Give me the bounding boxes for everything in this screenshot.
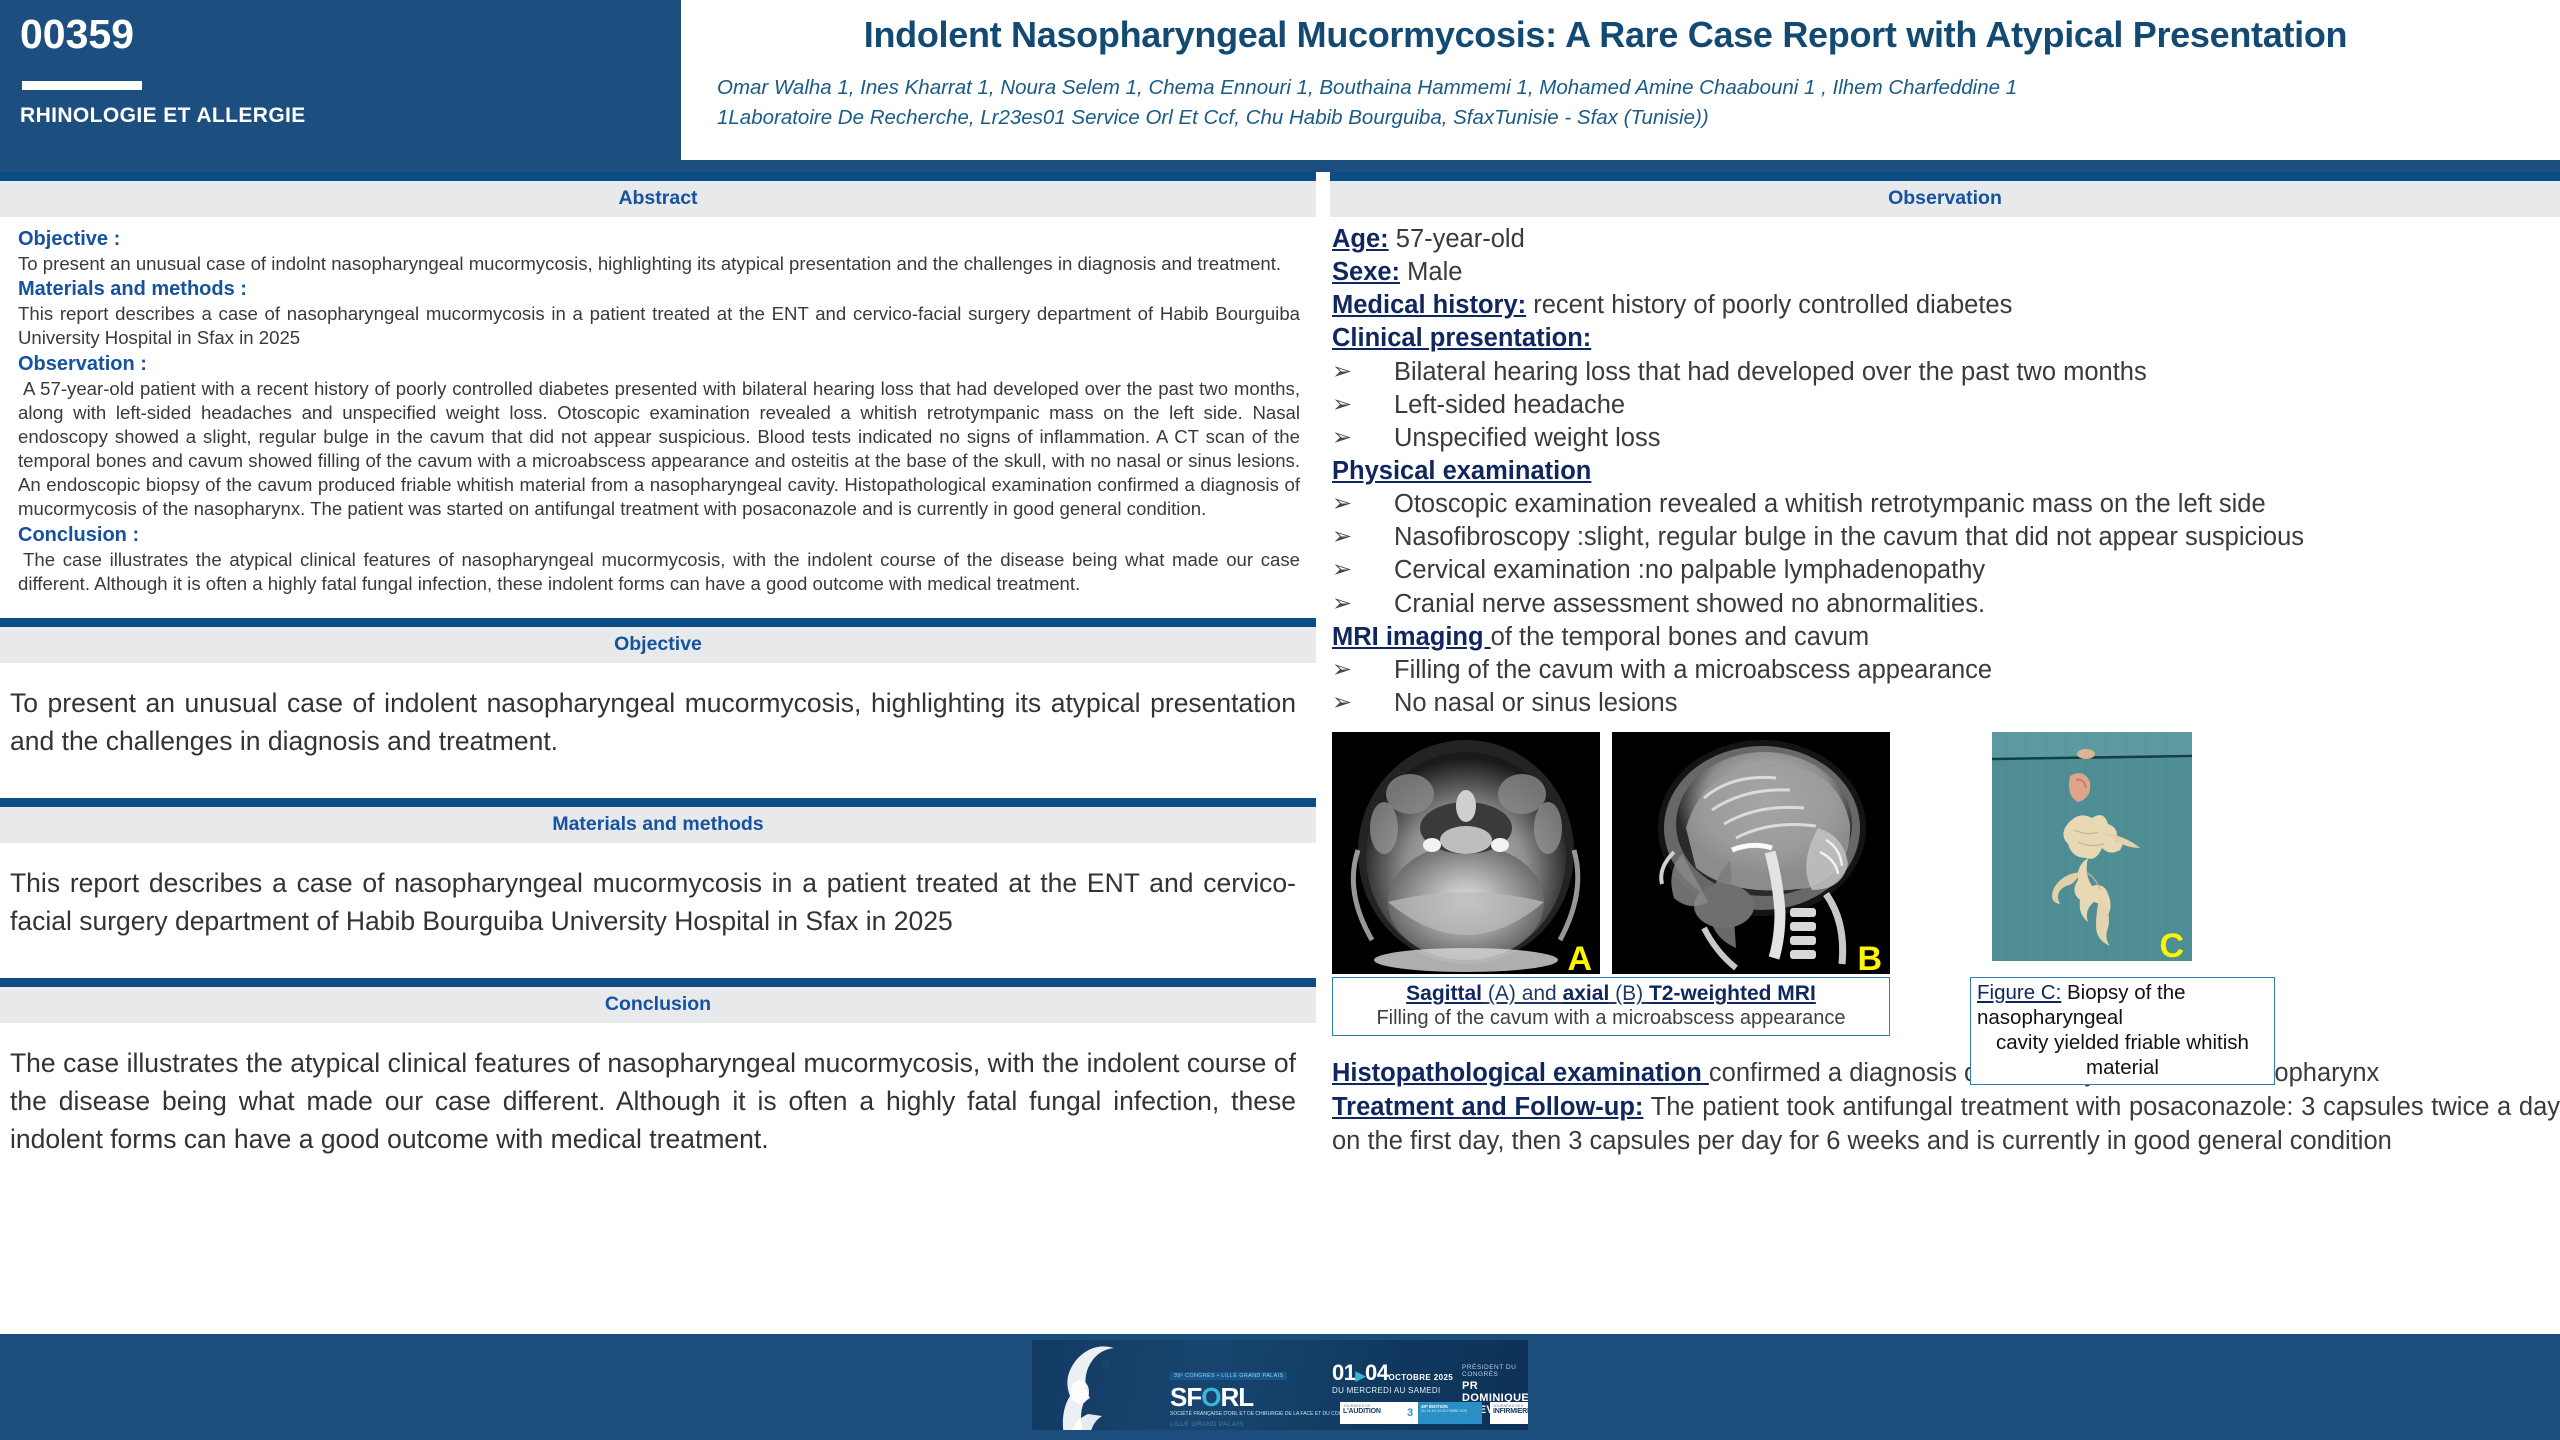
abstract-observation-label: Observation : [18,351,1300,377]
caption-ab-sep1: (A) and [1482,982,1563,1005]
list-item-label: Bilateral hearing loss that had develope… [1394,356,2560,389]
section-title-abstract: Abstract [0,187,1316,210]
poster-category-label: RHINOLOGIE ET ALLERGIE [20,104,681,128]
arrowhead-bullet-icon: ➢ [1332,687,1394,720]
poster-root: 00359 RHINOLOGIE ET ALLERGIE Indolent Na… [0,0,2560,1440]
figure-b: B [1612,732,1890,974]
abstract-conclusion-text: The case illustrates the atypical clinic… [18,548,1300,596]
list-item-label: Filling of the cavum with a microabscess… [1394,654,2560,687]
observation-age-label: Age: [1332,225,1389,253]
observation-histopath-row: Histopathological examination confirmed … [1330,1057,2560,1091]
date-to: 04 [1365,1360,1388,1385]
caption-ab-line2: Filling of the cavum with a microabscess… [1339,1006,1883,1030]
objective-text: To present an unusual case of indolent n… [10,685,1296,760]
conclusion-text: The case illustrates the atypical clinic… [10,1045,1296,1158]
congress-banner: 39ᵉ CONGRÈS • LILLE GRAND PALAIS SFORL S… [1032,1340,1528,1436]
left-column: Abstract Objective : To present an unusu… [0,172,1316,1178]
list-item-label: Cranial nerve assessment showed no abnor… [1394,588,2560,621]
chip-infirmieres-name: INFIRMIERES [1493,1408,1528,1415]
materials-body: This report describes a case of nasophar… [0,843,1316,960]
date-month: OCTOBRE 2025 [1388,1373,1453,1382]
chip-audition-left: JOURNÉES DE L'AUDITION [1340,1402,1402,1424]
chip-audition-right: 40ᵉ ÉDITION DU 01 AU 04 OCTOBRE 2025 [1418,1402,1482,1424]
section-header-conclusion: Conclusion [0,978,1316,1023]
congress-date-range: 01▶04OCTOBRE 2025 [1332,1362,1453,1384]
caption-ab-sagittal: Sagittal [1406,982,1482,1005]
figure-a-tag: A [1567,942,1592,976]
abstract-conclusion-label: Conclusion : [18,522,1300,548]
materials-text: This report describes a case of nasophar… [10,865,1296,940]
header-rule-divider [22,81,142,90]
observation-mri-label: MRI imaging [1332,623,1491,651]
section-header-objective: Objective [0,618,1316,663]
affiliation-line: 1Laboratoire De Recherche, Lr23es01 Serv… [717,103,2520,132]
observation-clinical-label: Clinical presentation: [1332,324,1591,352]
abstract-body: Objective : To present an unusual case o… [0,217,1316,600]
section-header-observation: Observation [1330,172,2560,217]
chip-audition-dates: DU 01 AU 04 OCTOBRE 2025 [1421,1409,1479,1413]
congress-dates-block: 01▶04OCTOBRE 2025 DU MERCREDI AU SAMEDI [1332,1362,1453,1395]
figure-b-tag: B [1857,942,1882,976]
abstract-materials-label: Materials and methods : [18,276,1300,302]
congress-event-chips: JOURNÉES DE L'AUDITION 3 40ᵉ ÉDITION DU … [1340,1402,1528,1424]
observation-sexe-value: Male [1407,258,1462,286]
arrowhead-bullet-icon: ➢ [1332,554,1394,587]
spacer [0,960,1316,978]
figure-c-tag: C [2159,929,2184,963]
header-right-block: Indolent Nasopharyngeal Mucormycosis: A … [681,0,2560,160]
section-title-objective: Objective [0,633,1316,656]
section-title-conclusion: Conclusion [0,993,1316,1016]
list-item-label: Otoscopic examination revealed a whitish… [1394,488,2560,521]
brand-part-2: RL [1220,1382,1253,1412]
observation-history-value: recent history of poorly controlled diab… [1533,291,2012,319]
observation-history-row: Medical history: recent history of poorl… [1330,289,2560,322]
conclusion-body: The case illustrates the atypical clinic… [0,1023,1316,1178]
arrowhead-bullet-icon: ➢ [1332,389,1394,422]
poster-header: 00359 RHINOLOGIE ET ALLERGIE Indolent Na… [0,0,2560,160]
spacer [0,600,1316,618]
observation-age-value: 57-year-old [1396,225,1525,253]
caption-box-c: Figure C: Biopsy of the nasopharyngeal c… [1970,977,2275,1085]
list-item: ➢ Cervical examination :no palpable lymp… [1330,554,2560,587]
figure-a: A [1332,732,1600,974]
date-from: 01 [1332,1360,1355,1385]
observation-physical-label: Physical examination [1332,457,1591,485]
arrowhead-bullet-icon: ➢ [1332,488,1394,521]
footer-bottom-bar [0,1430,2560,1440]
arrowhead-bullet-icon: ➢ [1332,588,1394,621]
observation-mri-value: of the temporal bones and cavum [1491,623,1869,651]
abstract-objective-text: To present an unusual case of indolnt na… [18,252,1300,276]
sforl-brand: SFORL [1170,1384,1342,1410]
caption-c-line2: cavity yielded friable whitish material [1977,1030,2268,1080]
observation-tail: Histopathological examination confirmed … [1330,1057,2560,1159]
observation-clinical-row: Clinical presentation: [1330,322,2560,355]
caption-box-ab: Sagittal (A) and axial (B) T2-weighted M… [1332,977,1890,1036]
president-label: PRÉSIDENT DU CONGRÈS [1462,1364,1528,1378]
author-list: Omar Walha 1, Ines Kharrat 1, Noura Sele… [691,73,2520,131]
abstract-objective-label: Objective : [18,226,1300,252]
congress-venue: LILLE GRAND PALAIS [1170,1421,1342,1428]
congress-kicker: 39ᵉ CONGRÈS • LILLE GRAND PALAIS [1170,1372,1287,1380]
figure-c: C [1992,732,2192,961]
chip-audition-badge-icon: 3 [1402,1402,1418,1424]
header-left-block: 00359 RHINOLOGIE ET ALLERGIE [0,0,681,160]
chip-infirmieres: JOURNÉES DES INFIRMIERES 3 10ᵉ ÉDITION D… [1490,1402,1528,1424]
list-item: ➢ Nasofibroscopy :slight, regular bulge … [1330,521,2560,554]
figure-row: A [1330,732,2560,974]
observation-age-row: Age: 57-year-old [1330,223,2560,256]
arrowhead-bullet-icon: ➢ [1332,521,1394,554]
abstract-materials-text: This report describes a case of nasophar… [18,302,1300,350]
observation-sexe-row: Sexe: Male [1330,256,2560,289]
chip-audition-number: 3 [1407,1407,1413,1419]
list-item-label: Nasofibroscopy :slight, regular bulge in… [1394,521,2560,554]
congress-face-illustration [1044,1342,1164,1436]
chip-audition-name: L'AUDITION [1343,1408,1399,1415]
chip-audition: JOURNÉES DE L'AUDITION 3 40ᵉ ÉDITION DU … [1340,1402,1482,1424]
list-item: ➢ No nasal or sinus lesions [1330,687,2560,720]
authors-line: Omar Walha 1, Ines Kharrat 1, Noura Sele… [717,73,2520,102]
congress-date-days: DU MERCREDI AU SAMEDI [1332,1386,1453,1395]
caption-ab-line1: Sagittal (A) and axial (B) T2-weighted M… [1339,981,1883,1006]
list-item: ➢ Unspecified weight loss [1330,422,2560,455]
observation-mri-row: MRI imaging of the temporal bones and ca… [1330,621,2560,654]
observation-histopath-label: Histopathological examination [1332,1059,1709,1087]
date-arrow-icon: ▶ [1355,1368,1365,1383]
caption-c-line1: Figure C: Biopsy of the nasopharyngeal [1977,981,2268,1030]
observation-sexe-label: Sexe: [1332,258,1400,286]
abstract-observation-text: A 57-year-old patient with a recent hist… [18,377,1300,522]
section-header-abstract: Abstract [0,172,1316,217]
list-item-label: Unspecified weight loss [1394,422,2560,455]
chip-infirmieres-left: JOURNÉES DES INFIRMIERES [1490,1402,1528,1424]
list-item: ➢ Cranial nerve assessment showed no abn… [1330,588,2560,621]
section-title-materials: Materials and methods [0,813,1316,836]
observation-body: Age: 57-year-old Sexe: Male Medical hist… [1330,217,2560,1159]
right-column: Observation Age: 57-year-old Sexe: Male … [1330,172,2560,1159]
observation-history-label: Medical history: [1332,291,1526,319]
section-header-materials: Materials and methods [0,798,1316,843]
caption-ab-modality: T2-weighted MRI [1649,982,1816,1005]
section-title-observation: Observation [1330,187,2560,210]
caption-ab-sep2: (B) [1609,982,1649,1005]
poster-number: 00359 [20,14,681,55]
spacer [0,780,1316,798]
arrowhead-bullet-icon: ➢ [1332,654,1394,687]
caption-ab-axial: axial [1563,982,1610,1005]
observation-physical-row: Physical examination [1330,455,2560,488]
figure-caption-row: Sagittal (A) and axial (B) T2-weighted M… [1330,977,2560,1049]
page-title: Indolent Nasopharyngeal Mucormycosis: A … [691,14,2520,55]
header-bottom-bar [0,160,2560,172]
list-item: ➢ Otoscopic examination revealed a whiti… [1330,488,2560,521]
caption-c-key: Figure C: [1977,981,2061,1004]
list-item-label: No nasal or sinus lesions [1394,687,2560,720]
arrowhead-bullet-icon: ➢ [1332,422,1394,455]
sforl-logo-block: 39ᵉ CONGRÈS • LILLE GRAND PALAIS SFORL S… [1170,1364,1342,1428]
arrowhead-bullet-icon: ➢ [1332,356,1394,389]
observation-treatment-label: Treatment and Follow-up: [1332,1093,1643,1121]
observation-treatment-row: Treatment and Follow-up: The patient too… [1330,1091,2560,1159]
list-item: ➢ Left-sided headache [1330,389,2560,422]
list-item-label: Left-sided headache [1394,389,2560,422]
list-item: ➢ Filling of the cavum with a microabsce… [1330,654,2560,687]
sagittal-mri-image [1612,732,1890,974]
axial-mri-image [1332,732,1600,974]
objective-body: To present an unusual case of indolent n… [0,663,1316,780]
list-item: ➢ Bilateral hearing loss that had develo… [1330,356,2560,389]
brand-part-1: SF [1170,1382,1201,1412]
sforl-subtitle: SOCIÉTÉ FRANÇAISE D'ORL ET DE CHIRURGIE … [1170,1411,1342,1418]
list-item-label: Cervical examination :no palpable lympha… [1394,554,2560,587]
brand-part-o: O [1201,1382,1220,1412]
